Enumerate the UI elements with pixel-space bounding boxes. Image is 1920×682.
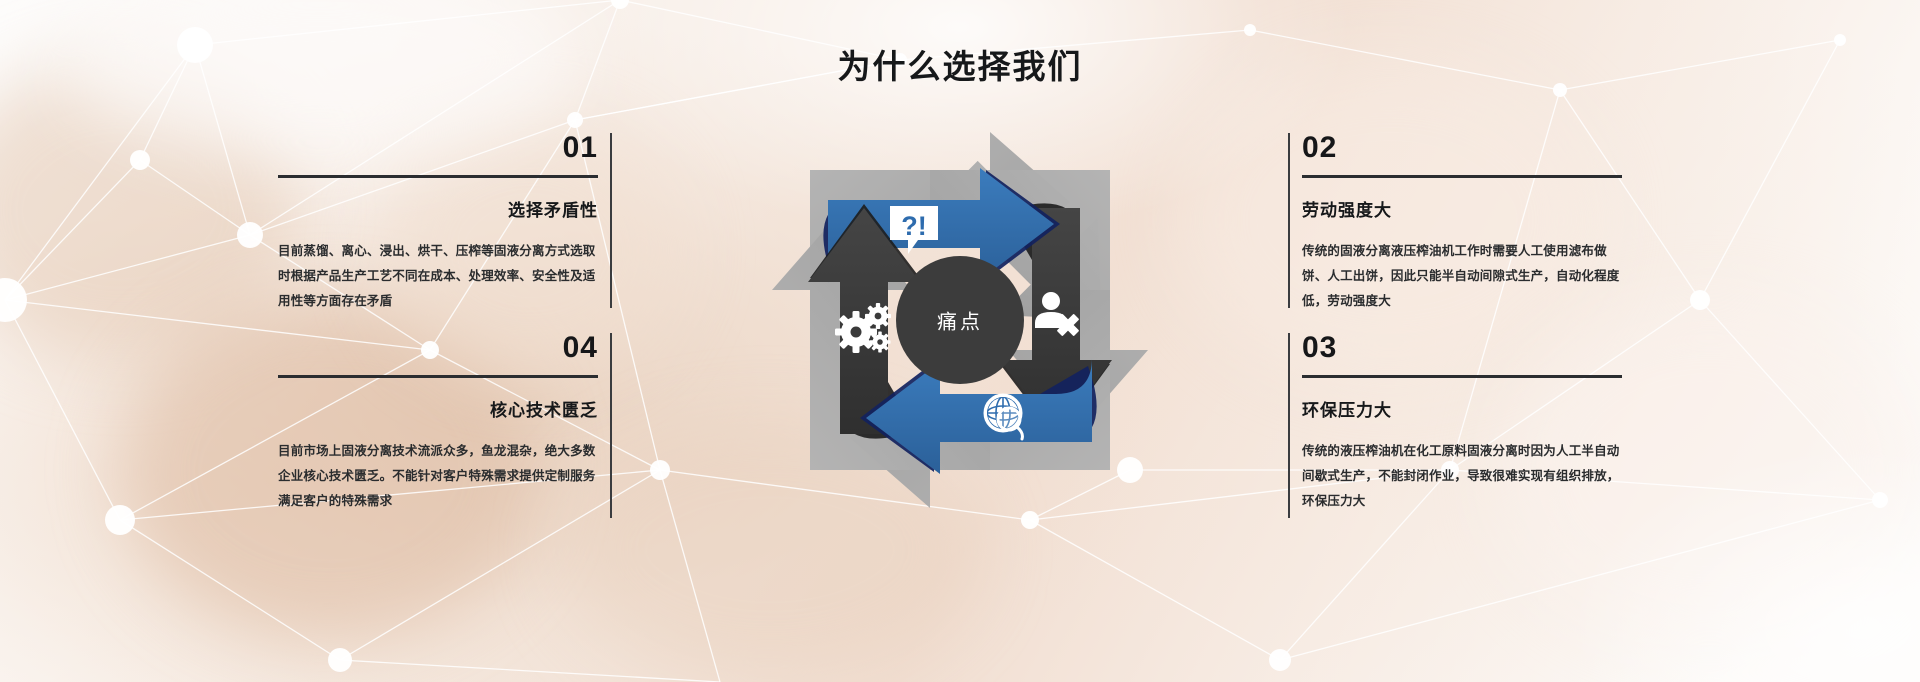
- panel-01-subtitle: 选择矛盾性: [278, 196, 598, 221]
- panel-03-number: 03: [1302, 333, 1622, 363]
- svg-text:?!: ?!: [901, 211, 926, 241]
- panel-02-rule: [1302, 175, 1622, 178]
- page-title: 为什么选择我们: [0, 40, 1920, 88]
- center-circle-label: 痛点: [937, 306, 983, 335]
- panel-04-rule: [278, 375, 598, 378]
- panel-04-subtitle: 核心技术匮乏: [278, 396, 598, 421]
- panel-02-number: 02: [1302, 133, 1622, 163]
- panel-04: 04 核心技术匮乏 目前市场上固液分离技术流派众多，鱼龙混杂，绝大多数企业核心技…: [278, 333, 612, 518]
- panel-01-body: 目前蒸馏、离心、浸出、烘干、压榨等固液分离方式选取时根据产品生产工艺不同在成本、…: [278, 239, 598, 314]
- panel-03-rule: [1302, 375, 1622, 378]
- cycle-diagram: ?!: [740, 110, 1180, 530]
- panel-02-body: 传统的固液分离液压榨油机工作时需要人工使用滤布做饼、人工出饼，因此只能半自动间隙…: [1302, 239, 1622, 314]
- background-blur-shape: [0, 60, 300, 360]
- panel-04-body: 目前市场上固液分离技术流派众多，鱼龙混杂，绝大多数企业核心技术匮乏。不能针对客户…: [278, 439, 598, 514]
- panel-03-body: 传统的液压榨油机在化工原料固液分离时因为人工半自动间歇式生产，不能封闭作业，导致…: [1302, 439, 1622, 514]
- panel-02-subtitle: 劳动强度大: [1302, 196, 1622, 221]
- panel-04-number: 04: [278, 333, 598, 363]
- panel-01-number: 01: [278, 133, 598, 163]
- panel-03-subtitle: 环保压力大: [1302, 396, 1622, 421]
- panel-03: 03 环保压力大 传统的液压榨油机在化工原料固液分离时因为人工半自动间歇式生产，…: [1288, 333, 1622, 518]
- panel-02: 02 劳动强度大 传统的固液分离液压榨油机工作时需要人工使用滤布做饼、人工出饼，…: [1288, 133, 1622, 308]
- panel-01-rule: [278, 175, 598, 178]
- panel-01: 01 选择矛盾性 目前蒸馏、离心、浸出、烘干、压榨等固液分离方式选取时根据产品生…: [278, 133, 612, 308]
- slide-canvas: 为什么选择我们 01 选择矛盾性 目前蒸馏、离心、浸出、烘干、压榨等固液分离方式…: [0, 0, 1920, 682]
